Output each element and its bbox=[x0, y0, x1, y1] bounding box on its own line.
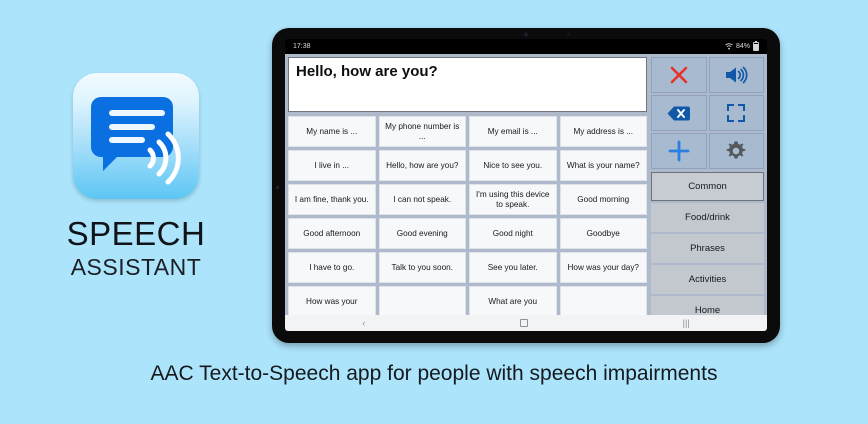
page-caption: AAC Text-to-Speech app for people with s… bbox=[0, 362, 868, 386]
phrase-button[interactable]: Nice to see you. bbox=[469, 150, 557, 181]
battery-icon bbox=[753, 42, 759, 51]
category-list: Common Food/drink Phrases Activities Hom… bbox=[651, 172, 764, 315]
category-button-food-drink[interactable]: Food/drink bbox=[651, 203, 764, 232]
nav-home-icon[interactable] bbox=[520, 319, 528, 327]
phrase-button[interactable]: Good night bbox=[469, 218, 557, 249]
phrase-button[interactable]: What are you bbox=[469, 286, 557, 315]
phrase-button[interactable]: Hello, how are you? bbox=[379, 150, 467, 181]
tablet-screen: 17:38 84% Hello, how are you? My name is… bbox=[285, 39, 767, 331]
phrase-grid: My name is ... My phone number is ... My… bbox=[288, 116, 647, 315]
phrase-button[interactable]: See you later. bbox=[469, 252, 557, 283]
right-pane: Common Food/drink Phrases Activities Hom… bbox=[649, 54, 767, 315]
fullscreen-icon bbox=[726, 103, 746, 123]
phrase-button[interactable]: Goodbye bbox=[560, 218, 648, 249]
speech-text-input[interactable]: Hello, how are you? bbox=[288, 57, 647, 112]
action-button-grid bbox=[651, 57, 764, 169]
phrase-button[interactable]: I'm using this device to speak. bbox=[469, 184, 557, 215]
status-indicators: 84% bbox=[725, 42, 759, 51]
speak-button[interactable] bbox=[709, 57, 765, 93]
status-bar: 17:38 84% bbox=[285, 39, 767, 54]
plus-icon bbox=[668, 140, 690, 162]
tablet-device: 17:38 84% Hello, how are you? My name is… bbox=[272, 28, 780, 343]
backspace-button[interactable] bbox=[651, 95, 707, 131]
phrase-button[interactable]: How was your bbox=[288, 286, 376, 315]
brand-title: SPEECH bbox=[67, 217, 206, 250]
side-button bbox=[276, 186, 279, 189]
settings-button[interactable] bbox=[709, 133, 765, 169]
phrase-button[interactable]: Good evening bbox=[379, 218, 467, 249]
brand-subtitle: ASSISTANT bbox=[71, 256, 202, 279]
clear-text-button[interactable] bbox=[651, 57, 707, 93]
add-phrase-button[interactable] bbox=[651, 133, 707, 169]
fullscreen-button[interactable] bbox=[709, 95, 765, 131]
gear-icon bbox=[725, 140, 747, 162]
front-camera-icon bbox=[524, 32, 529, 37]
phrase-button[interactable]: What is your name? bbox=[560, 150, 648, 181]
nav-back-icon[interactable]: ‹ bbox=[362, 319, 365, 328]
phrase-button[interactable]: Talk to you soon. bbox=[379, 252, 467, 283]
sensor-dot-icon bbox=[567, 33, 570, 36]
phrase-button[interactable]: I can not speak. bbox=[379, 184, 467, 215]
speaker-icon bbox=[724, 65, 748, 85]
phrase-button[interactable]: Good afternoon bbox=[288, 218, 376, 249]
battery-percent: 84% bbox=[736, 43, 750, 50]
close-x-icon bbox=[669, 65, 689, 85]
category-button-phrases[interactable]: Phrases bbox=[651, 234, 764, 263]
category-button-common[interactable]: Common bbox=[651, 172, 764, 201]
phrase-button[interactable] bbox=[560, 286, 648, 315]
phrase-button[interactable]: I am fine, thank you. bbox=[288, 184, 376, 215]
phrase-button[interactable]: My phone number is ... bbox=[379, 116, 467, 147]
speech-assistant-app: Hello, how are you? My name is ... My ph… bbox=[285, 54, 767, 315]
status-time: 17:38 bbox=[293, 43, 311, 50]
wifi-icon bbox=[725, 43, 733, 50]
category-button-home[interactable]: Home bbox=[651, 296, 764, 315]
phrase-button[interactable]: Good morning bbox=[560, 184, 648, 215]
speech-bubble-with-sound-waves-icon bbox=[73, 73, 199, 199]
android-nav-bar: ‹ ||| bbox=[285, 315, 767, 331]
phrase-button[interactable]: How was your day? bbox=[560, 252, 648, 283]
phrase-button[interactable]: My address is ... bbox=[560, 116, 648, 147]
backspace-icon bbox=[667, 105, 691, 122]
phrase-button[interactable]: I live in ... bbox=[288, 150, 376, 181]
phrase-button[interactable]: I have to go. bbox=[288, 252, 376, 283]
phrase-button[interactable] bbox=[379, 286, 467, 315]
category-button-activities[interactable]: Activities bbox=[651, 265, 764, 294]
left-pane: Hello, how are you? My name is ... My ph… bbox=[285, 54, 649, 315]
nav-recents-icon[interactable]: ||| bbox=[683, 319, 690, 328]
phrase-button[interactable]: My email is ... bbox=[469, 116, 557, 147]
phrase-button[interactable]: My name is ... bbox=[288, 116, 376, 147]
brand-block: SPEECH ASSISTANT bbox=[0, 0, 272, 352]
